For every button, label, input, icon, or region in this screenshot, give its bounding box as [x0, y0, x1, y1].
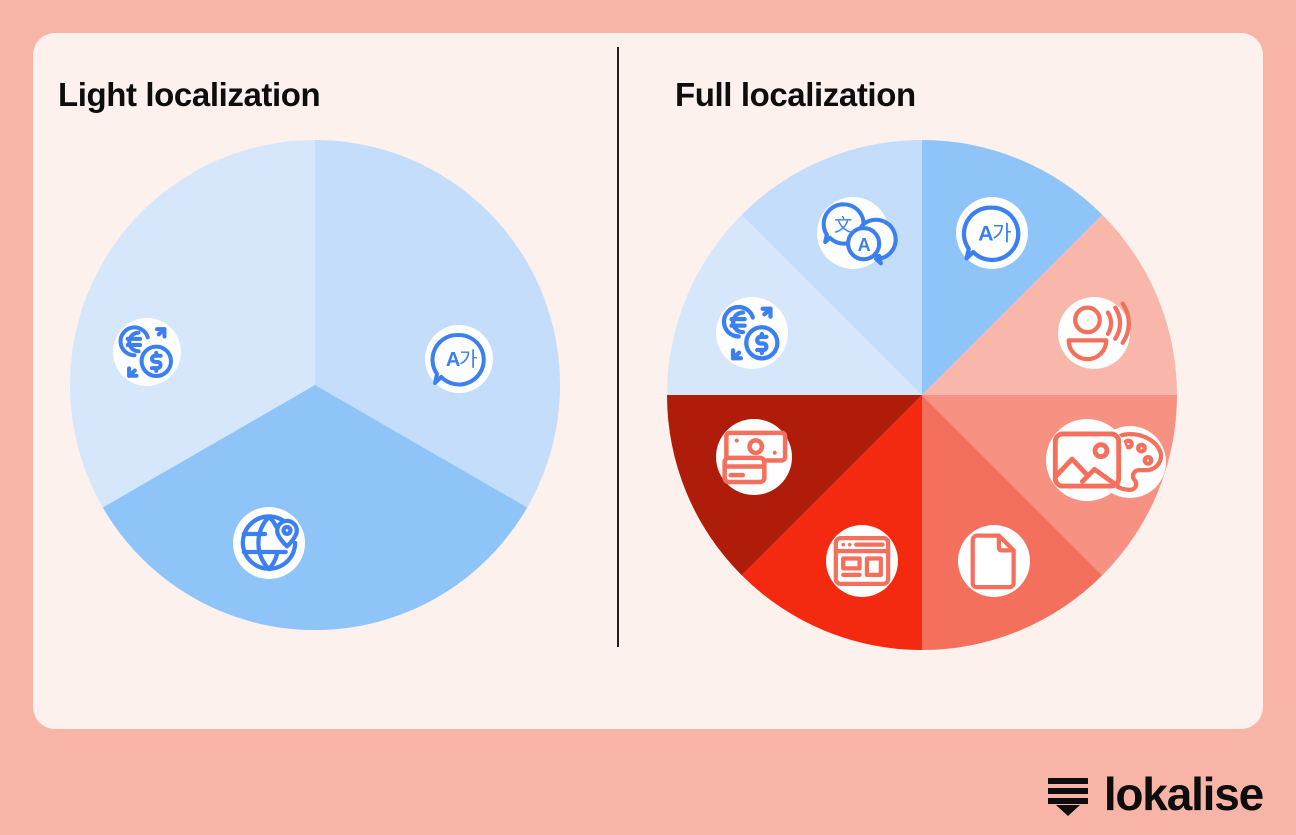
- icon-bubble-global-locale[interactable]: [233, 507, 305, 579]
- page-title-full-localization: Full localization: [675, 76, 916, 114]
- light-localization-pie-chart: A 가: [65, 135, 565, 635]
- icon-bubble-text-translation[interactable]: A 가: [425, 325, 493, 393]
- icon-bubble-website-ui[interactable]: [826, 525, 898, 597]
- icon-bubble-image-localization[interactable]: [1046, 419, 1128, 501]
- icon-bubble-currency-conversion[interactable]: [716, 297, 788, 369]
- svg-text:가: 가: [992, 221, 1012, 246]
- globe-pin-icon: [233, 507, 305, 579]
- document-icon: [958, 525, 1030, 597]
- lokalise-logo[interactable]: lokalise: [1046, 771, 1263, 817]
- lokalise-logo-mark: [1046, 772, 1090, 816]
- translate-speech-bubble-icon: A 가: [956, 197, 1028, 269]
- icon-bubble-documents[interactable]: [958, 525, 1030, 597]
- infographic-page: Light localization Full localization: [0, 0, 1296, 835]
- multilingual-chat-icon: 文 A: [817, 197, 889, 269]
- icon-bubble-currency-conversion[interactable]: [113, 318, 181, 386]
- currency-exchange-icon: [113, 318, 181, 386]
- svg-text:가: 가: [459, 347, 477, 371]
- banknote-card-icon: [716, 419, 792, 495]
- browser-layout-icon: [826, 525, 898, 597]
- image-icon: [1046, 419, 1128, 501]
- icon-bubble-text-translation[interactable]: A 가: [956, 197, 1028, 269]
- icon-bubble-payment-methods[interactable]: [716, 419, 792, 495]
- icon-bubble-voice-audio[interactable]: [1058, 297, 1130, 369]
- icon-bubble-group-images-design: [1046, 419, 1166, 505]
- panel-divider: [617, 47, 619, 647]
- lokalise-wordmark: lokalise: [1104, 771, 1263, 817]
- full-localization-pie-chart: 文 A A 가: [662, 135, 1182, 655]
- voice-waves-icon: [1058, 297, 1130, 369]
- currency-exchange-icon: [716, 297, 788, 369]
- icon-bubble-multilingual-chat[interactable]: 文 A: [817, 197, 889, 269]
- translate-speech-bubble-icon: A 가: [425, 325, 493, 393]
- svg-text:A: A: [858, 235, 871, 255]
- page-title-light-localization: Light localization: [58, 76, 320, 114]
